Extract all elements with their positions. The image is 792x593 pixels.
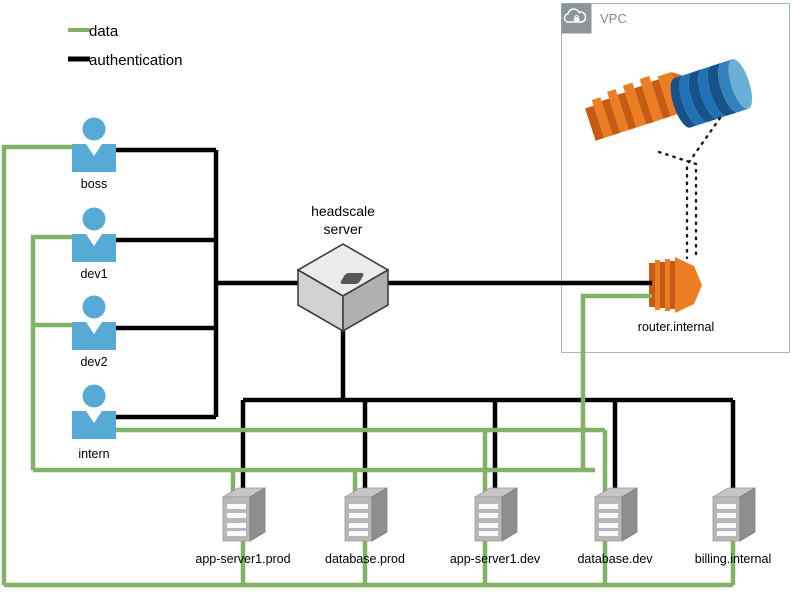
cube-icon (298, 244, 388, 331)
node-label-app-server1-prod: app-server1.prod (195, 552, 290, 566)
node-label-billing-internal: billing.internal (695, 552, 771, 566)
vpc-container: VPC (562, 4, 790, 353)
node-dev2[interactable]: dev2 (72, 296, 116, 370)
node-billing-internal[interactable]: billing.internal (695, 488, 771, 566)
server-icon (475, 488, 517, 541)
node-label-dev1: dev1 (80, 267, 107, 281)
user-icon (72, 385, 116, 440)
user-icon (72, 118, 116, 173)
server-icon (345, 488, 387, 541)
user-nodes: boss dev1 dev2 intern (72, 118, 116, 462)
node-label-boss: boss (81, 177, 107, 191)
legend: data authentication (68, 23, 182, 69)
server-nodes: app-server1.prod database.prod app-serve… (195, 488, 771, 566)
data-link-dev1 (33, 237, 72, 470)
node-label-database-prod: database.prod (325, 552, 405, 566)
server-icon (713, 488, 755, 541)
server-icon (595, 488, 637, 541)
user-icon (72, 296, 116, 351)
node-boss[interactable]: boss (72, 118, 116, 192)
node-app-server1-dev[interactable]: app-server1.dev (450, 488, 541, 566)
node-label-dev2: dev2 (80, 355, 107, 369)
node-label-database-dev: database.dev (577, 552, 653, 566)
legend-label-data: data (89, 23, 119, 40)
node-label-intern: intern (78, 447, 109, 461)
node-headscale-server[interactable]: headscale server (298, 203, 388, 331)
headscale-label-line2: server (324, 221, 363, 237)
legend-item-authentication: authentication (68, 52, 182, 69)
data-link-boss (4, 147, 72, 585)
network-diagram-canvas: data authentication VPC (0, 0, 792, 593)
vpc-label: VPC (600, 11, 627, 26)
router-internal-label: router.internal (638, 320, 714, 334)
headscale-label-line1: headscale (311, 203, 375, 219)
node-dev1[interactable]: dev1 (72, 208, 116, 282)
node-intern[interactable]: intern (72, 385, 116, 462)
legend-label-authentication: authentication (89, 52, 182, 69)
node-database-dev[interactable]: database.dev (577, 488, 653, 566)
user-icon (72, 208, 116, 263)
node-database-prod[interactable]: database.prod (325, 488, 405, 566)
server-icon (223, 488, 265, 541)
legend-item-data: data (68, 23, 119, 40)
node-app-server1-prod[interactable]: app-server1.prod (195, 488, 290, 566)
topology-svg: data authentication VPC (0, 0, 792, 593)
node-label-app-server1-dev: app-server1.dev (450, 552, 541, 566)
